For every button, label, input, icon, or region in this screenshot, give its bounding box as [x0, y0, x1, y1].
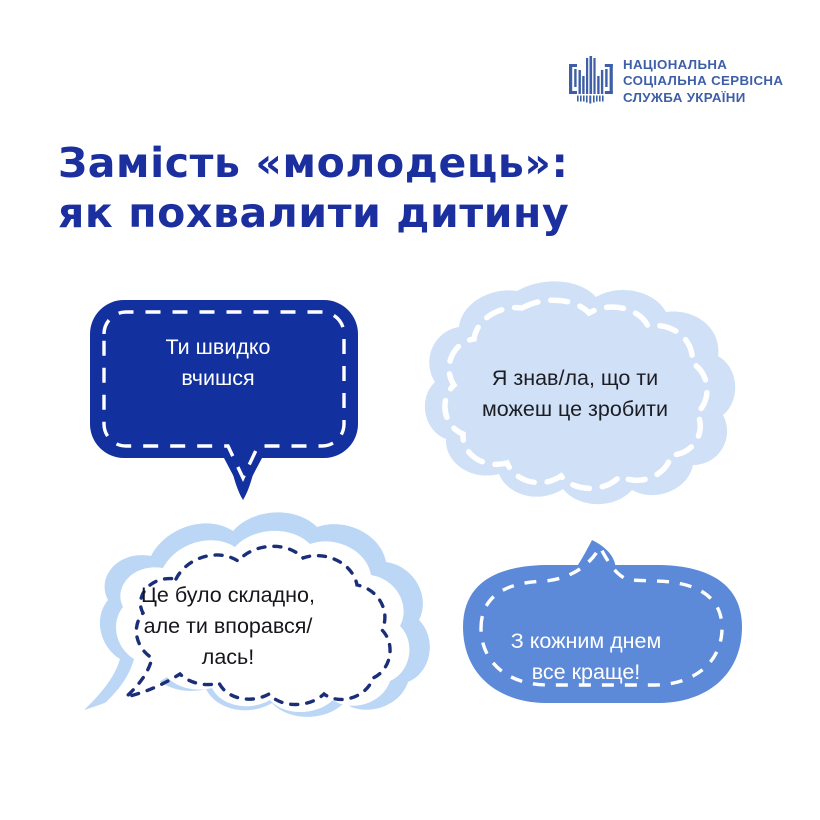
- organization-logo: НАЦІОНАЛЬНА СОЦІАЛЬНА СЕРВІСНА СЛУЖБА УК…: [568, 50, 798, 112]
- logo-line-1: НАЦІОНАЛЬНА: [623, 57, 783, 73]
- bubble-text-2: Я знав/ла, що ти можеш це зробити: [430, 363, 720, 425]
- poster-canvas: НАЦІОНАЛЬНА СОЦІАЛЬНА СЕРВІСНА СЛУЖБА УК…: [0, 0, 820, 820]
- bubble-text-3: Це було складно, але ти впорався/ лась!: [96, 580, 360, 673]
- bubble-text-1: Ти швидко вчишся: [96, 332, 340, 394]
- bubble-text-4: З кожним днем все краще!: [466, 626, 706, 688]
- logo-line-3: СЛУЖБА УКРАЇНИ: [623, 90, 783, 106]
- logo-wordmark: НАЦІОНАЛЬНА СОЦІАЛЬНА СЕРВІСНА СЛУЖБА УК…: [623, 57, 783, 106]
- bubble-rounded-rect-dark-shape: [90, 300, 358, 500]
- page-title-line-2: як похвалити дитину: [58, 188, 698, 238]
- page-title: Замість «молодець»: як похвалити дитину: [58, 138, 698, 238]
- page-title-line-1: Замість «молодець»:: [58, 138, 698, 188]
- logo-line-2: СОЦІАЛЬНА СЕРВІСНА: [623, 73, 783, 89]
- ukrainian-trident-emblem: [568, 56, 614, 106]
